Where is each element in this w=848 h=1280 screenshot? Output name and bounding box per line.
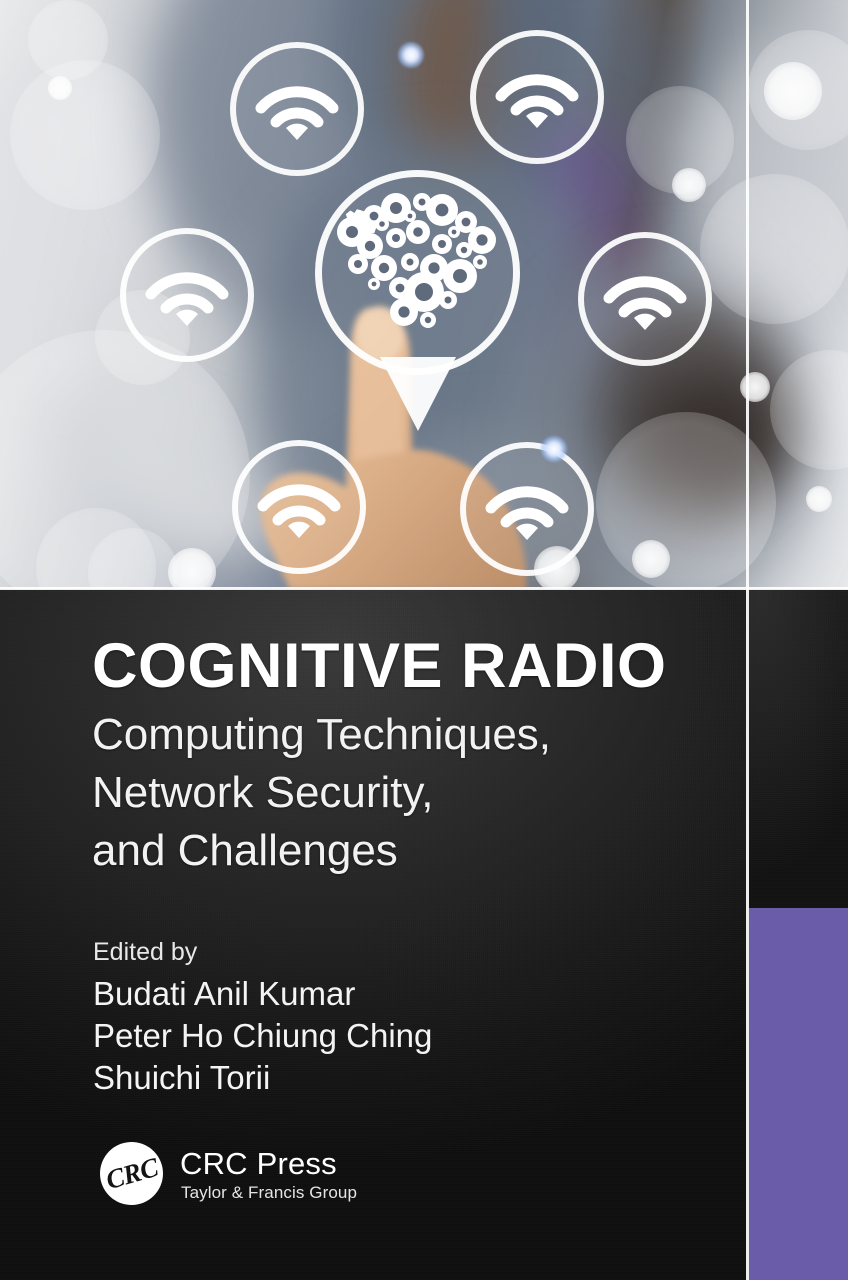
bokeh-light [764,62,822,120]
network-node-bottom-right [460,442,594,576]
vertical-divider [746,0,749,1280]
editor-name: Shuichi Torii [93,1057,432,1099]
editor-name: Budati Anil Kumar [93,973,432,1015]
subtitle-line: and Challenges [92,822,551,880]
wifi-icon [484,478,570,540]
bokeh-light [48,76,72,100]
network-node-bottom-left [232,440,366,574]
crc-badge-text: CRC [102,1151,161,1195]
edited-by-label: Edited by [93,938,197,967]
wifi-icon [602,268,688,330]
bokeh-light [626,86,734,194]
bokeh-light [596,412,776,589]
network-node-left [120,228,254,362]
bokeh-light [168,548,216,589]
bokeh-light [632,540,670,578]
bokeh-light [0,330,250,589]
photo-blur-shape [640,370,790,500]
bokeh-light [10,60,160,210]
spine-dark-strip [749,590,848,908]
bokeh-light [28,0,108,80]
spine-accent-strip [749,908,848,1280]
brain-gears-icon [330,188,510,338]
network-node-top-left [230,42,364,176]
wifi-icon [144,264,230,326]
strip-texture [749,590,848,908]
bokeh-light [672,168,706,202]
crc-badge-icon: CRC [100,1142,163,1205]
bokeh-light [36,508,156,589]
book-cover: COGNITIVE RADIO Computing Techniques, Ne… [0,0,848,1280]
bokeh-light [748,30,848,150]
photo-blur-shape [690,40,848,340]
bokeh-light [740,372,770,402]
cover-photo [0,0,848,589]
bokeh-light [806,486,832,512]
subtitle-line: Network Security, [92,764,551,822]
editor-list: Budati Anil Kumar Peter Ho Chiung Ching … [93,973,432,1099]
page-title: COGNITIVE RADIO [92,630,667,702]
subtitle-line: Computing Techniques, [92,706,551,764]
network-node-top-right [470,30,604,164]
subtitle: Computing Techniques, Network Security, … [92,706,551,880]
bokeh-light [398,42,424,68]
editor-name: Peter Ho Chiung Ching [93,1015,432,1057]
wifi-icon [256,476,342,538]
wifi-icon [254,78,340,140]
bokeh-light [88,528,178,589]
network-node-right [578,232,712,366]
publisher-tagline: Taylor & Francis Group [181,1183,357,1203]
bokeh-light [700,174,848,324]
publisher-logo: CRC CRC Press Taylor & Francis Group [100,1142,390,1212]
publisher-name: CRC Press [180,1146,337,1182]
bokeh-light [770,350,848,470]
wifi-icon [494,66,580,128]
